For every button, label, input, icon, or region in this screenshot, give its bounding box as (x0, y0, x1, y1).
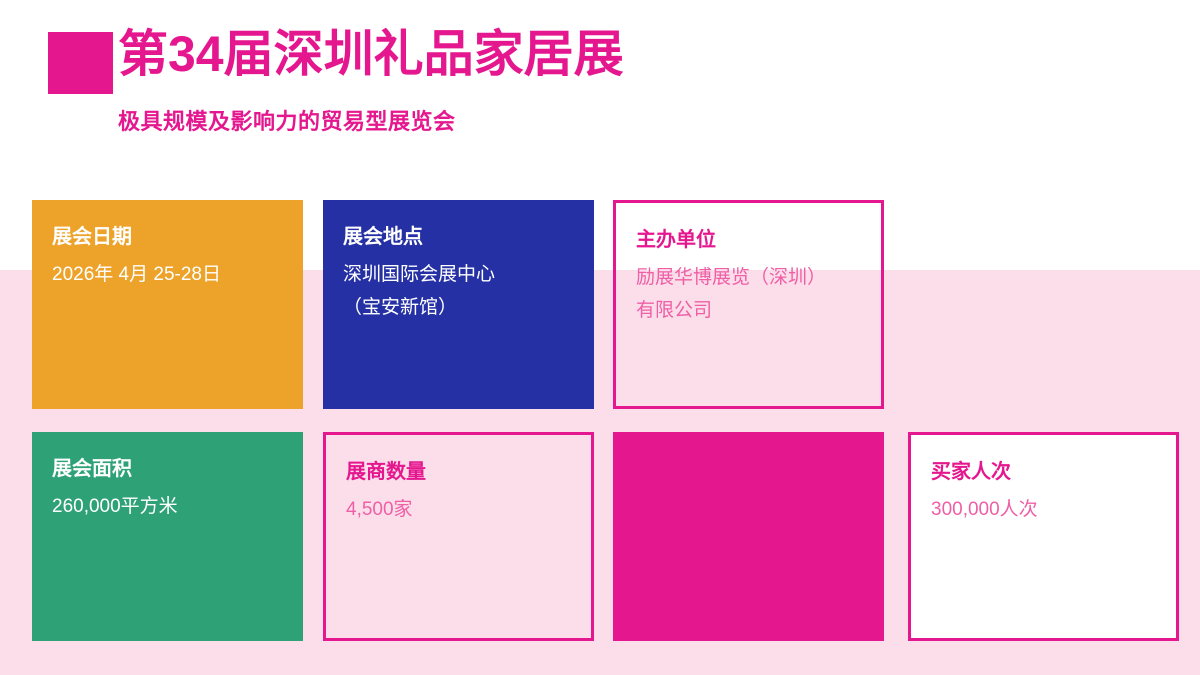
page-subtitle: 极具规模及影响力的贸易型展览会 (118, 104, 456, 136)
info-card-blank (613, 432, 884, 641)
card-title-date: 展会日期 (52, 222, 283, 252)
card-value-venue-line2: （宝安新馆） (343, 291, 574, 324)
card-title-area: 展会面积 (52, 454, 283, 484)
card-value-area: 260,000平方米 (52, 490, 283, 523)
card-title-organizer: 主办单位 (636, 225, 861, 255)
page-title: 第34届深圳礼品家居展 (118, 28, 624, 81)
card-value-buyers: 300,000人次 (931, 493, 1156, 526)
card-title-venue: 展会地点 (343, 222, 574, 252)
info-card-area: 展会面积 260,000平方米 (32, 432, 303, 641)
card-value-organizer-line2: 有限公司 (636, 294, 861, 327)
card-title-buyers: 买家人次 (931, 457, 1156, 487)
info-card-date: 展会日期 2026年 4月 25-28日 (32, 200, 303, 409)
info-card-venue: 展会地点 深圳国际会展中心 （宝安新馆） (323, 200, 594, 409)
logo-square-icon (48, 32, 113, 94)
card-value-date: 2026年 4月 25-28日 (52, 258, 283, 291)
slide-canvas: 第34届深圳礼品家居展 极具规模及影响力的贸易型展览会 展会日期 2026年 4… (0, 0, 1200, 675)
card-value-exhibitors: 4,500家 (346, 493, 571, 526)
card-value-organizer-line1: 励展华博展览（深圳） (636, 261, 861, 294)
card-title-exhibitors: 展商数量 (346, 457, 571, 487)
info-card-organizer: 主办单位 励展华博展览（深圳） 有限公司 (613, 200, 884, 409)
info-card-buyers: 买家人次 300,000人次 (908, 432, 1179, 641)
card-value-venue-line1: 深圳国际会展中心 (343, 258, 574, 291)
slide-header: 第34届深圳礼品家居展 极具规模及影响力的贸易型展览会 (0, 0, 1200, 200)
info-card-exhibitors: 展商数量 4,500家 (323, 432, 594, 641)
